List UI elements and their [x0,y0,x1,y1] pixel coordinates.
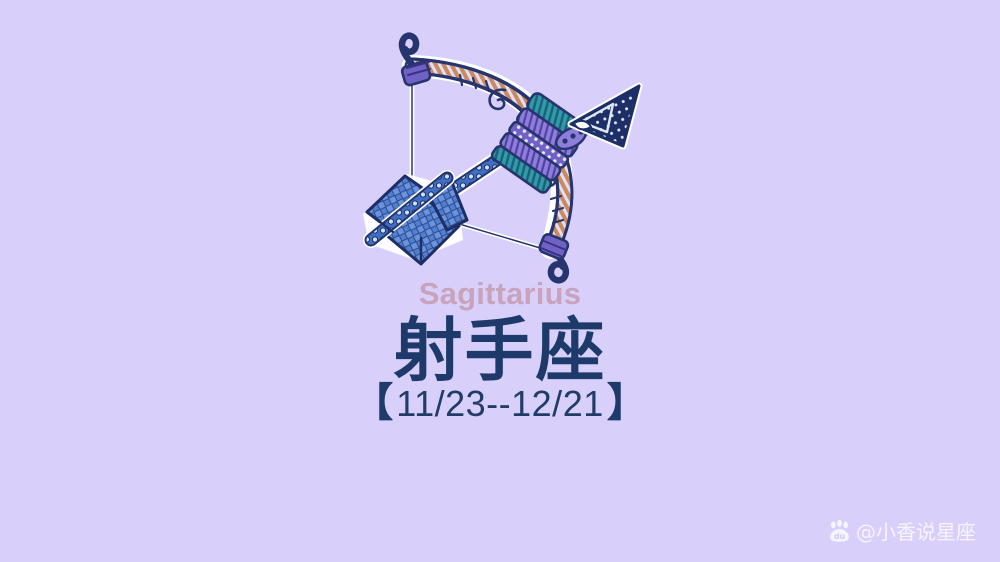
zodiac-poster: Sagittarius 射手座 【 11/23--12/21 】 du @小香说… [0,0,1000,562]
bow-and-arrow-illustration [355,28,645,293]
baidu-paw-icon: du [827,519,852,544]
date-range-text: 11/23--12/21 [393,386,606,422]
bracket-close: 】 [607,383,647,423]
zodiac-date-range: 【 11/23--12/21 】 [0,384,1000,424]
watermark: du @小香说星座 [827,519,976,544]
bow-grip [490,91,590,194]
bracket-open: 【 [353,383,393,423]
bow-tip-lower [538,233,569,281]
watermark-handle: @小香说星座 [856,522,976,542]
zodiac-text-block: Sagittarius 射手座 【 11/23--12/21 】 [0,278,1000,424]
svg-text:du: du [834,532,845,541]
zodiac-latin-name: Sagittarius [0,278,1000,309]
arrow-fletching [363,174,467,264]
zodiac-chinese-name: 射手座 [0,316,1000,386]
